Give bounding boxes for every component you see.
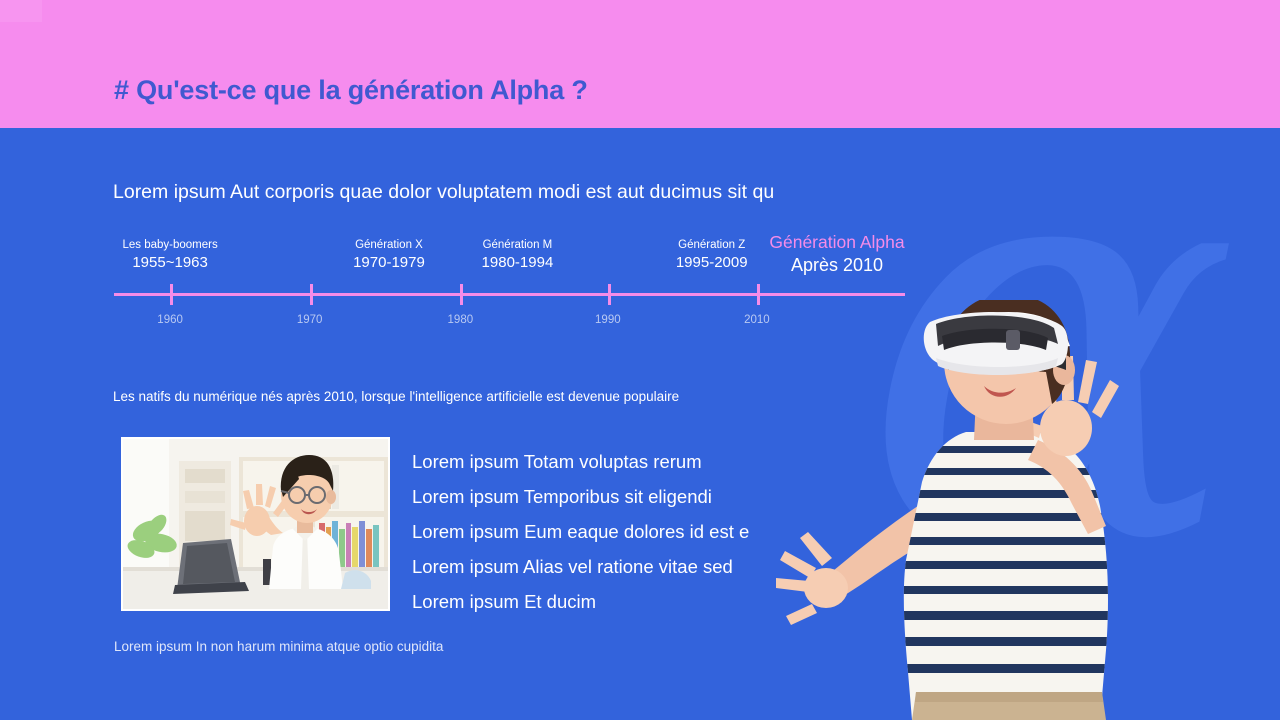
timeline-generation-label: Génération M 1980-1994 bbox=[482, 238, 554, 273]
timeline-year-label: 1980 bbox=[448, 314, 474, 326]
timeline-tick bbox=[757, 284, 760, 305]
footnote-text: Lorem ipsum In non harum minima atque op… bbox=[114, 639, 443, 654]
feature-list: Lorem ipsum Totam voluptas rerum Lorem i… bbox=[412, 444, 842, 619]
header-band bbox=[0, 0, 1280, 128]
timeline-tick bbox=[170, 284, 173, 305]
generation-years: 1980-1994 bbox=[482, 253, 554, 273]
timeline-generation-label-alpha: Génération Alpha Après 2010 bbox=[769, 231, 904, 277]
timeline-generation-label: Les baby-boomers 1955~1963 bbox=[122, 238, 217, 273]
timeline-year-label: 1970 bbox=[297, 314, 323, 326]
generation-name: Génération Alpha bbox=[769, 231, 904, 253]
list-item: Lorem ipsum Eum eaque dolores id est e bbox=[412, 514, 842, 549]
page-title: # Qu'est-ce que la génération Alpha ? bbox=[114, 75, 588, 106]
generation-years: 1970-1979 bbox=[353, 253, 425, 273]
timeline-generation-label: Génération Z 1995-2009 bbox=[676, 238, 748, 273]
subheading-text: Les natifs du numérique nés après 2010, … bbox=[113, 389, 679, 404]
timeline-tick bbox=[310, 284, 313, 305]
timeline-year-label: 2010 bbox=[744, 314, 770, 326]
generation-name: Génération M bbox=[482, 238, 554, 253]
generation-years: 1955~1963 bbox=[122, 253, 217, 273]
classroom-photo bbox=[121, 437, 390, 611]
timeline-axis-line bbox=[114, 293, 905, 296]
timeline-tick bbox=[460, 284, 463, 305]
generation-years: 1995-2009 bbox=[676, 253, 748, 273]
timeline-tick bbox=[608, 284, 611, 305]
generations-timeline: Les baby-boomers 1955~1963 Génération X … bbox=[113, 238, 906, 338]
header-corner-accent bbox=[0, 0, 42, 22]
intro-paragraph: Lorem ipsum Aut corporis quae dolor volu… bbox=[113, 181, 774, 204]
generation-years: Après 2010 bbox=[769, 253, 904, 277]
generation-name: Génération Z bbox=[676, 238, 748, 253]
generation-name: Les baby-boomers bbox=[122, 238, 217, 253]
timeline-year-label: 1960 bbox=[157, 314, 183, 326]
list-item: Lorem ipsum Totam voluptas rerum bbox=[412, 444, 842, 479]
list-item: Lorem ipsum Alias vel ratione vitae sed bbox=[412, 549, 842, 584]
timeline-year-label: 1990 bbox=[595, 314, 621, 326]
timeline-generation-label: Génération X 1970-1979 bbox=[353, 238, 425, 273]
list-item: Lorem ipsum Temporibus sit eligendi bbox=[412, 479, 842, 514]
generation-name: Génération X bbox=[353, 238, 425, 253]
list-item: Lorem ipsum Et ducim bbox=[412, 584, 842, 619]
slide: # Qu'est-ce que la génération Alpha ? α bbox=[0, 0, 1280, 720]
